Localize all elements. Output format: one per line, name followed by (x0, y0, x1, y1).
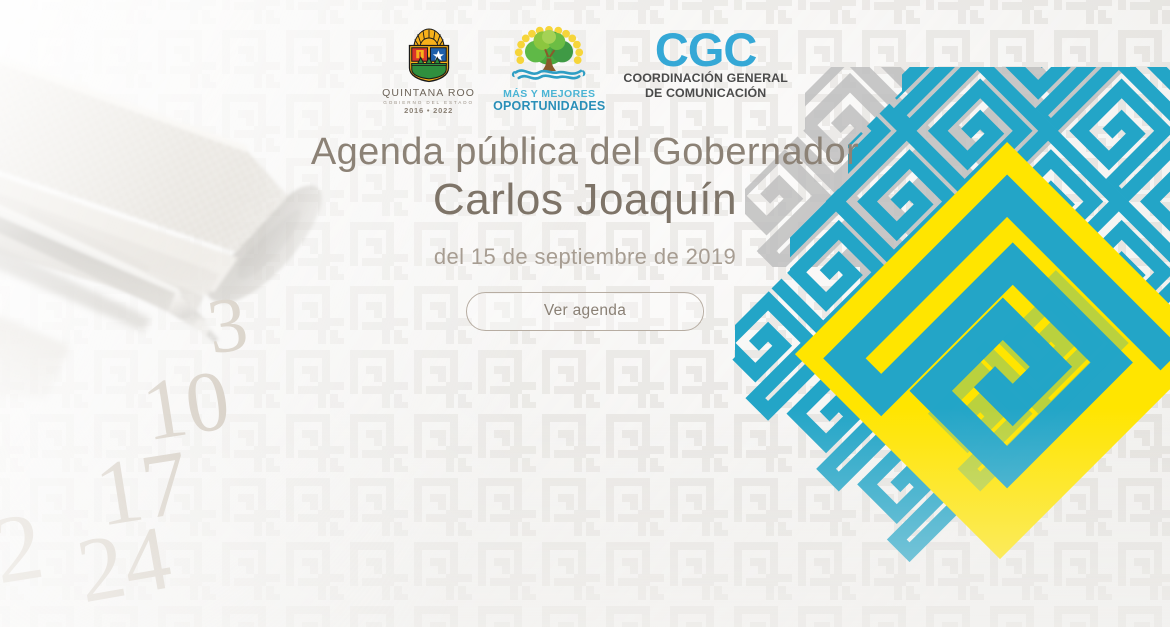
logo-cgc-line2: DE COMUNICACIÓN (645, 86, 766, 101)
logo-quintana-roo-name: QUINTANA ROO (382, 88, 475, 99)
logo-mmo-line2: OPORTUNIDADES (493, 100, 605, 113)
quintana-roo-coat-of-arms-icon (393, 26, 465, 86)
tree-sun-water-icon (506, 26, 592, 88)
cta-wrapper: Ver agenda (0, 292, 1170, 331)
agenda-date: del 15 de septiembre de 2019 (0, 244, 1170, 270)
logo-bar: QUINTANA ROO GOBIERNO DEL ESTADO 2016 • … (0, 0, 1170, 96)
logo-cgc-mark: CGC (655, 28, 756, 71)
ver-agenda-button[interactable]: Ver agenda (466, 292, 704, 331)
logo-cgc-line1: COORDINACIÓN GENERAL (623, 71, 787, 86)
logo-mas-y-mejores-oportunidades: MÁS Y MEJORES OPORTUNIDADES (493, 26, 605, 113)
logo-quintana-roo: QUINTANA ROO GOBIERNO DEL ESTADO 2016 • … (382, 26, 475, 115)
hero-content: QUINTANA ROO GOBIERNO DEL ESTADO 2016 • … (0, 0, 1170, 331)
title-block: Agenda pública del Gobernador Carlos Joa… (0, 132, 1170, 331)
logo-cgc: CGC COORDINACIÓN GENERAL DE COMUNICACIÓN (623, 26, 787, 101)
logo-quintana-roo-years: 2016 • 2022 (382, 107, 475, 115)
page-title: Agenda pública del Gobernador (0, 132, 1170, 173)
page-root: 3 10 17 24 2 (0, 0, 1170, 627)
governor-name: Carlos Joaquín (0, 175, 1170, 224)
logo-quintana-roo-subtitle: GOBIERNO DEL ESTADO (382, 101, 475, 106)
